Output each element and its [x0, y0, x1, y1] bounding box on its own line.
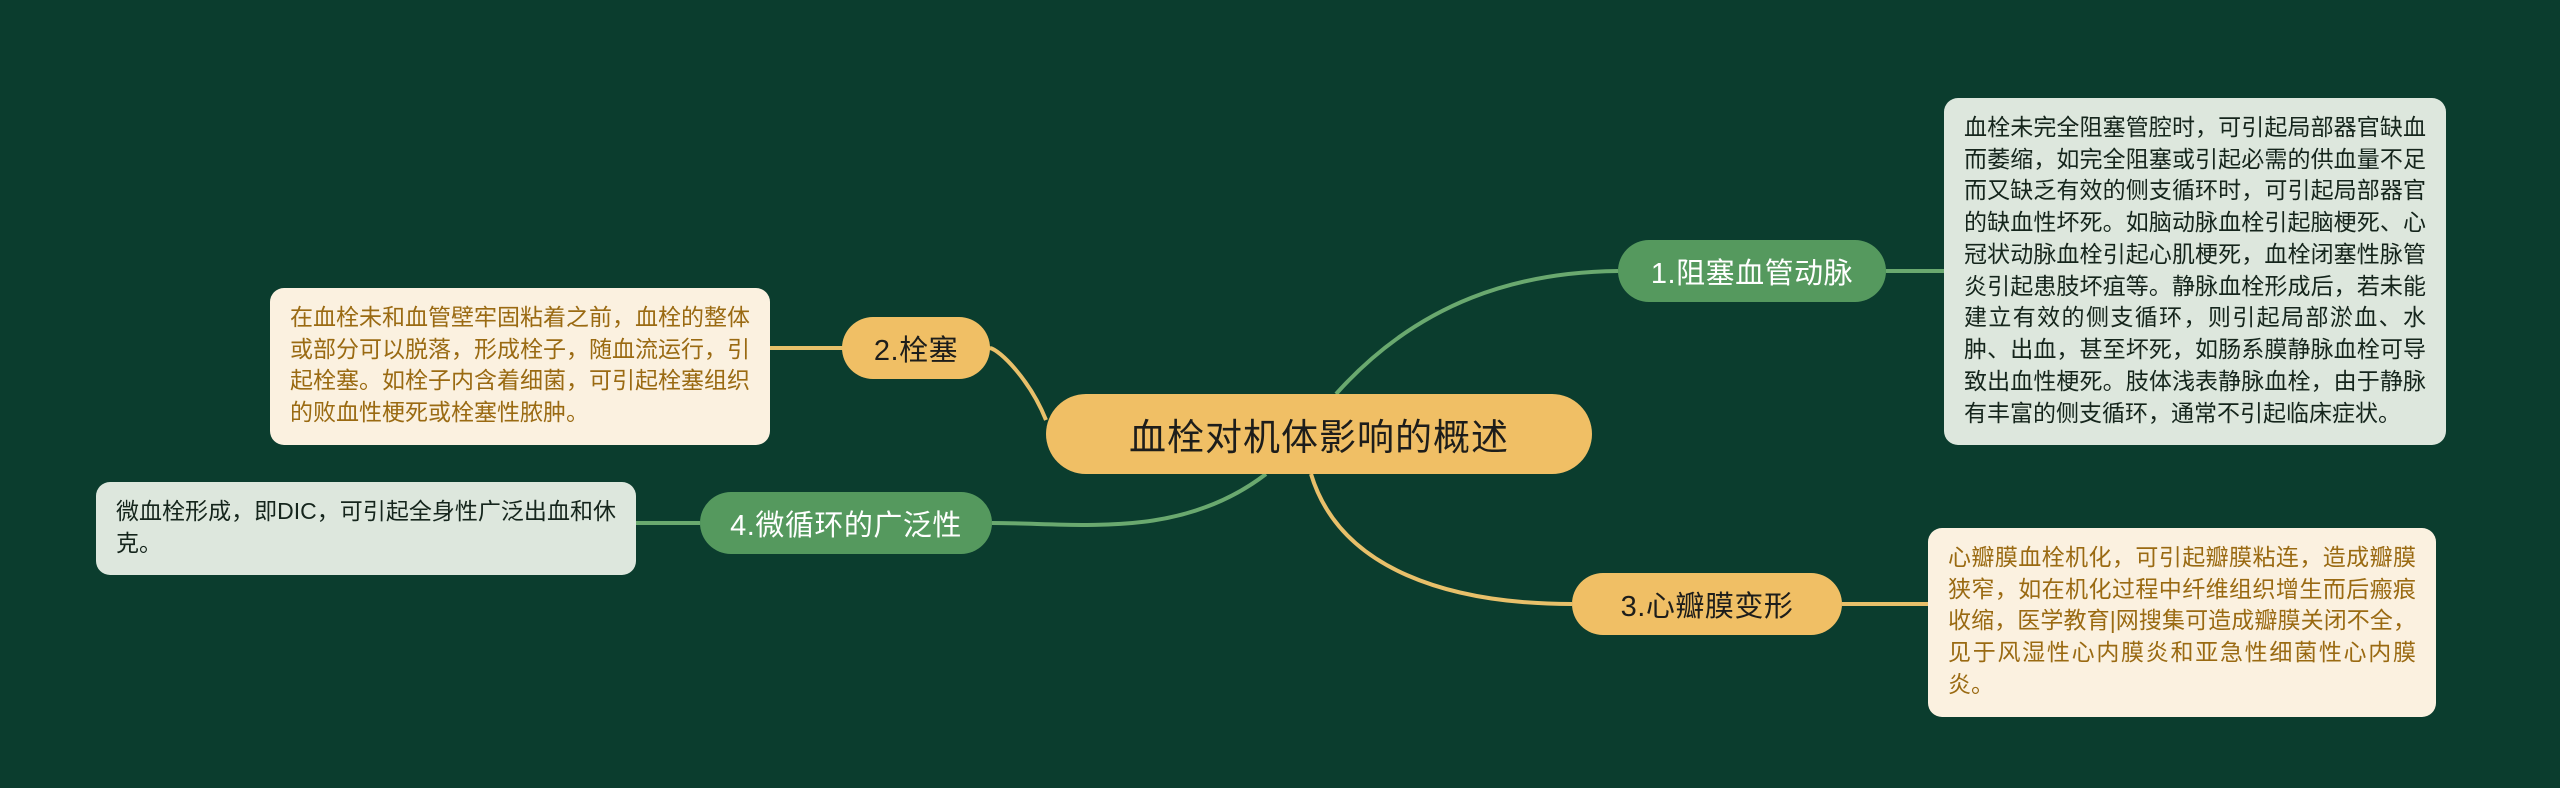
- connector-center-to-node-1: [1336, 271, 1618, 394]
- branch-node-3[interactable]: 3.心瓣膜变形: [1572, 573, 1842, 635]
- branch-node-1[interactable]: 1.阻塞血管动脉: [1618, 240, 1886, 302]
- branch-node-2[interactable]: 2.栓塞: [842, 317, 990, 379]
- detail-panel-1-text: 血栓未完全阻塞管腔时，可引起局部器官缺血而萎缩，如完全阻塞或引起必需的供血量不足…: [1964, 112, 2426, 429]
- detail-panel-1: 血栓未完全阻塞管腔时，可引起局部器官缺血而萎缩，如完全阻塞或引起必需的供血量不足…: [1944, 98, 2446, 445]
- connector-center-to-node-3: [1311, 474, 1572, 604]
- connector-center-to-node-4: [992, 474, 1266, 525]
- center-node[interactable]: 血栓对机体影响的概述: [1046, 394, 1592, 474]
- detail-panel-2-text: 在血栓未和血管壁牢固粘着之前，血栓的整体或部分可以脱落，形成栓子，随血流运行，引…: [290, 302, 750, 429]
- mindmap-canvas: 血栓对机体影响的概述 1.阻塞血管动脉 血栓未完全阻塞管腔时，可引起局部器官缺血…: [0, 0, 2560, 788]
- detail-panel-2: 在血栓未和血管壁牢固粘着之前，血栓的整体或部分可以脱落，形成栓子，随血流运行，引…: [270, 288, 770, 445]
- branch-node-1-label: 1.阻塞血管动脉: [1651, 250, 1853, 292]
- branch-node-3-label: 3.心瓣膜变形: [1621, 583, 1794, 625]
- detail-panel-4: 微血栓形成，即DIC，可引起全身性广泛出血和休克。: [96, 482, 636, 575]
- detail-panel-3: 心瓣膜血栓机化，可引起瓣膜粘连，造成瓣膜狭窄，如在机化过程中纤维组织增生而后瘢痕…: [1928, 528, 2436, 717]
- detail-panel-3-text: 心瓣膜血栓机化，可引起瓣膜粘连，造成瓣膜狭窄，如在机化过程中纤维组织增生而后瘢痕…: [1948, 542, 2416, 701]
- branch-node-4[interactable]: 4.微循环的广泛性: [700, 492, 992, 554]
- connector-center-to-node-2: [990, 348, 1046, 420]
- detail-panel-4-text: 微血栓形成，即DIC，可引起全身性广泛出血和休克。: [116, 496, 616, 559]
- branch-node-4-label: 4.微循环的广泛性: [730, 502, 962, 544]
- branch-node-2-label: 2.栓塞: [874, 327, 958, 369]
- center-node-label: 血栓对机体影响的概述: [1129, 407, 1509, 461]
